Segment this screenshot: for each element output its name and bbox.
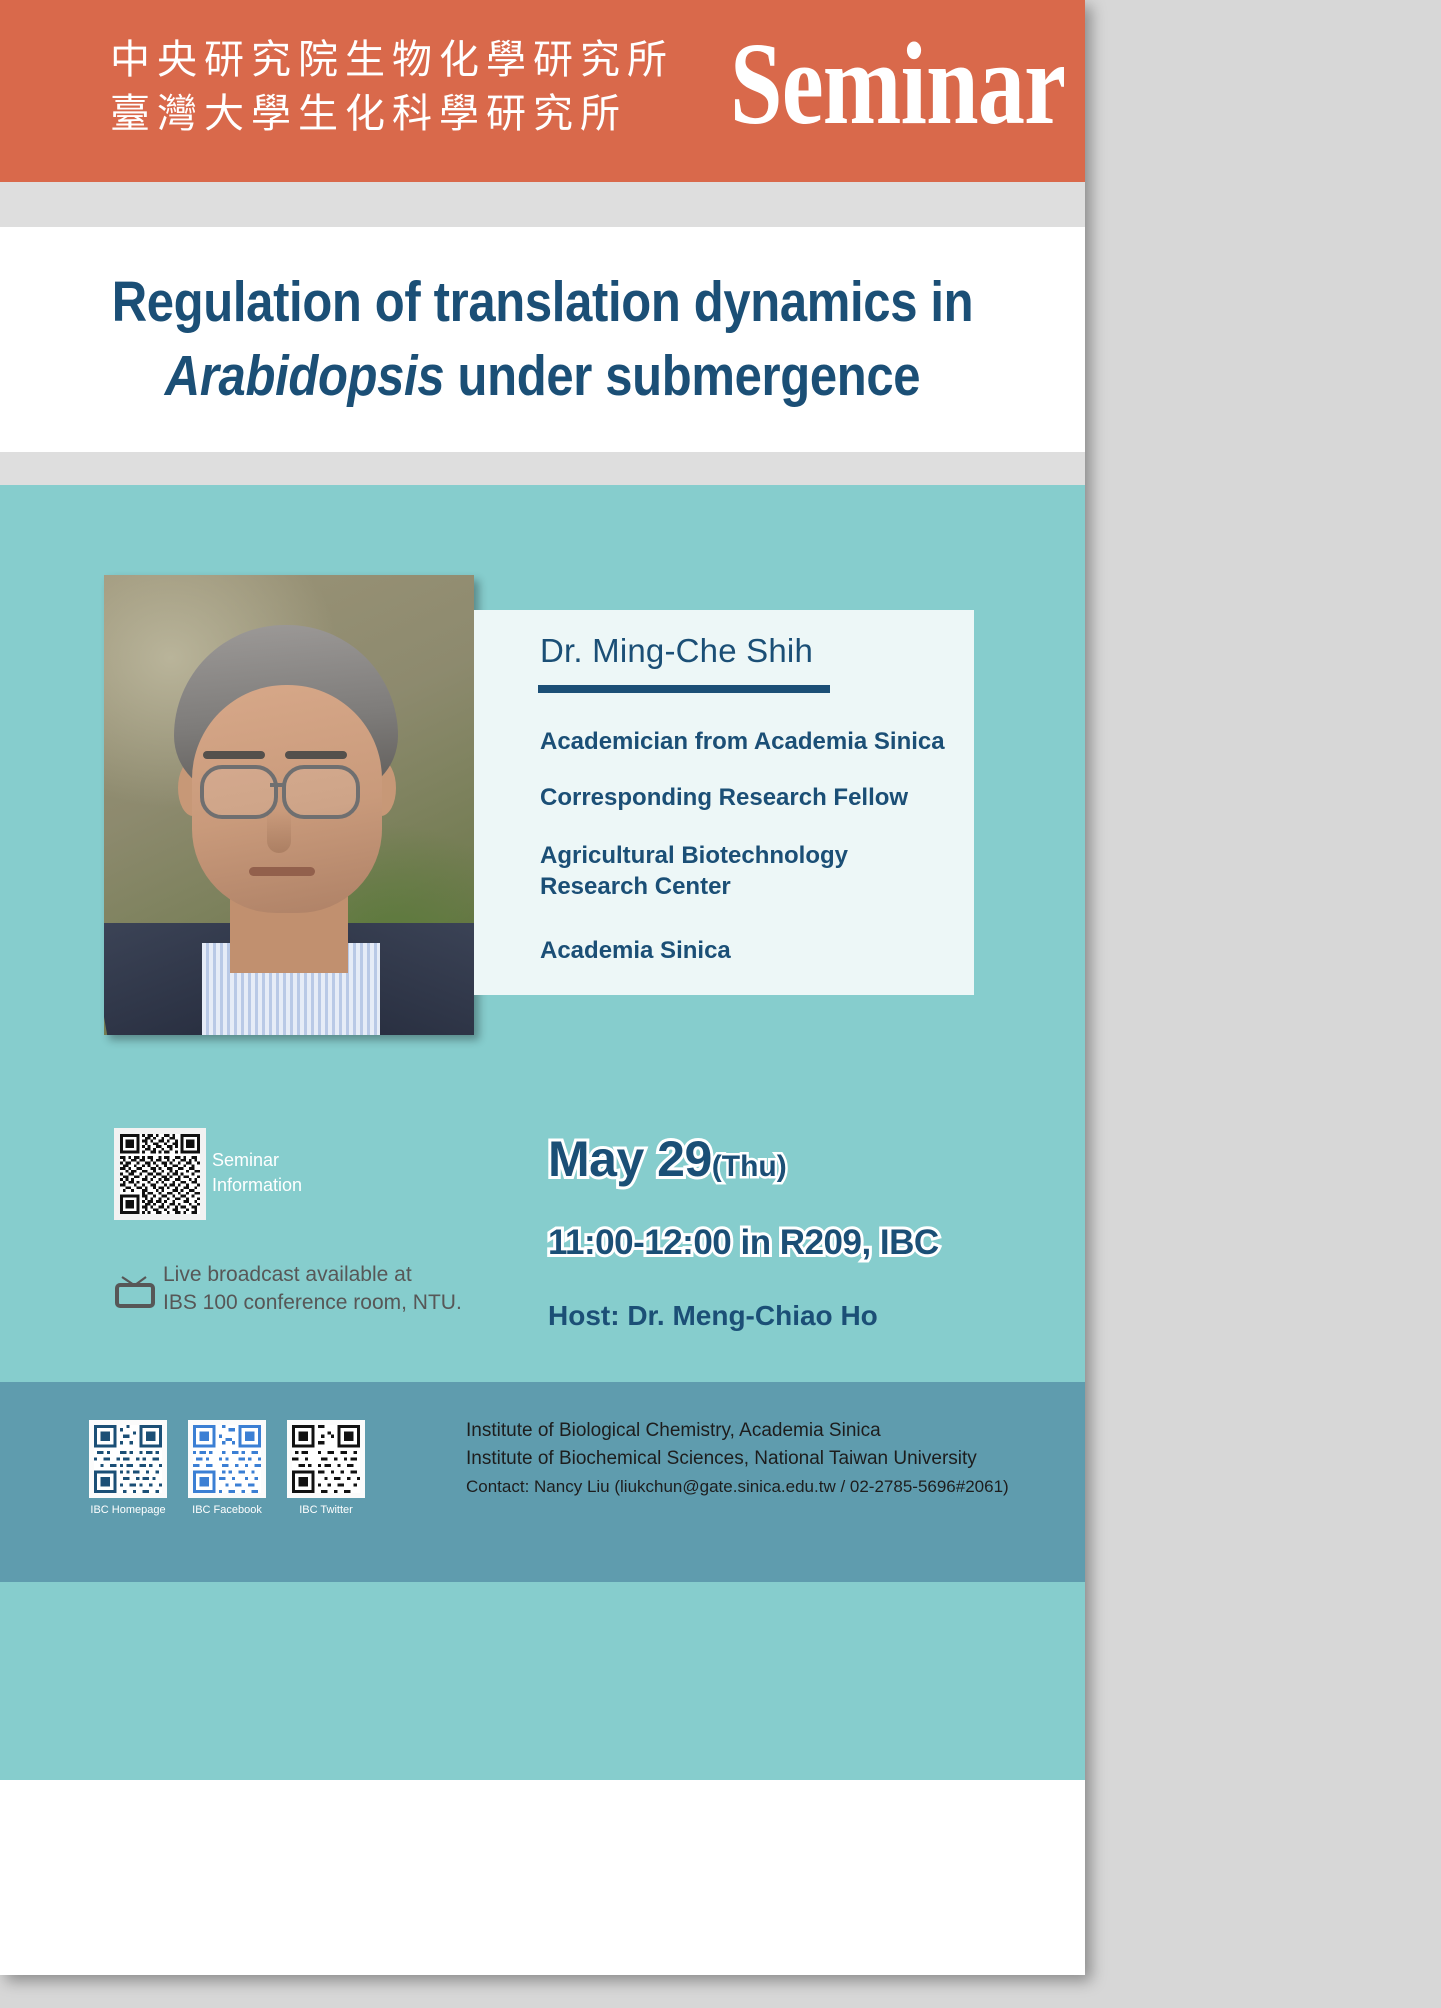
photo-glasses-bridge — [270, 783, 284, 787]
poster-page: 中央研究院生物化學研究所 臺灣大學生化科學研究所 Seminar Regulat… — [0, 0, 1441, 2008]
seminar-information-label: Seminar Information — [212, 1148, 392, 1198]
broadcast-line-2: IBS 100 conference room, NTU. — [163, 1289, 493, 1317]
footer-contact-block: Institute of Biological Chemistry, Acade… — [466, 1417, 1066, 1501]
title-species-italic: Arabidopsis — [165, 344, 445, 408]
broadcast-line-1: Live broadcast available at — [163, 1261, 493, 1289]
seminar-wordmark: Seminar — [730, 25, 1065, 143]
footer-qr-facebook-caption: IBC Facebook — [188, 1504, 266, 1516]
institute-names-cjk: 中央研究院生物化學研究所 臺灣大學生化科學研究所 — [110, 33, 674, 141]
photo-mouth — [249, 867, 315, 876]
speaker-name-rule — [538, 685, 830, 693]
footer-contact: Contact: Nancy Liu (liukchun@gate.sinica… — [466, 1473, 1066, 1501]
speaker-credential-3: Academia Sinica — [540, 935, 970, 966]
speaker-credential-1: Corresponding Research Fellow — [540, 782, 970, 813]
footer-qr-homepage-caption: IBC Homepage — [89, 1504, 167, 1516]
live-broadcast-note: Live broadcast available at IBS 100 conf… — [163, 1261, 493, 1317]
qr-matrix — [94, 1425, 162, 1493]
seminar-info-line-2: Information — [212, 1173, 392, 1198]
photo-glasses-right — [282, 765, 360, 819]
title-line-1: Regulation of translation dynamics in — [112, 270, 974, 334]
footer-qr-homepage-box — [89, 1420, 167, 1498]
divider-band-top — [0, 182, 1085, 227]
title-line-2-rest: under submergence — [444, 344, 920, 408]
photo-brow-left — [203, 751, 265, 759]
footer-qr-twitter-box — [287, 1420, 365, 1498]
event-date-row: May 29(Thu) — [548, 1130, 787, 1188]
tv-icon — [114, 1268, 156, 1308]
speaker-credential-2: Agricultural Biotechnology Research Cent… — [540, 840, 970, 902]
footer-qr-twitter-caption: IBC Twitter — [287, 1504, 365, 1516]
footer-institute-1: Institute of Biological Chemistry, Acade… — [466, 1417, 1066, 1445]
title-band: Regulation of translation dynamics in Ar… — [0, 227, 1085, 452]
footer-qr-facebook[interactable]: IBC Facebook — [188, 1420, 266, 1516]
cjk-line-1: 中央研究院生物化學研究所 — [110, 33, 674, 87]
event-time-location: 11:00-12:00 in R209, IBC — [548, 1223, 939, 1263]
page-title: Regulation of translation dynamics in Ar… — [76, 265, 1009, 413]
footer-qr-homepage[interactable]: IBC Homepage — [89, 1420, 167, 1516]
poster-sheet: 中央研究院生物化學研究所 臺灣大學生化科學研究所 Seminar Regulat… — [0, 0, 1085, 1975]
photo-nose — [267, 811, 291, 853]
speaker-photo — [104, 575, 474, 1035]
qr-matrix — [193, 1425, 261, 1493]
photo-brow-right — [285, 751, 347, 759]
event-day-of-week: (Thu) — [712, 1150, 787, 1183]
qr-matrix — [120, 1134, 200, 1214]
event-date: May 29 — [548, 1131, 712, 1187]
speaker-name: Dr. Ming-Che Shih — [540, 632, 813, 670]
cjk-line-2: 臺灣大學生化科學研究所 — [110, 87, 674, 141]
footer-qr-facebook-box — [188, 1420, 266, 1498]
event-host: Host: Dr. Meng-Chiao Ho — [548, 1300, 878, 1332]
footer-institute-2: Institute of Biochemical Sciences, Natio… — [466, 1445, 1066, 1473]
seminar-information-qr-code[interactable] — [114, 1128, 206, 1220]
seminar-info-line-1: Seminar — [212, 1148, 392, 1173]
speaker-credential-0: Academician from Academia Sinica — [540, 726, 970, 757]
poster-header: 中央研究院生物化學研究所 臺灣大學生化科學研究所 Seminar — [0, 0, 1085, 182]
qr-matrix — [292, 1425, 360, 1493]
footer-qr-twitter[interactable]: IBC Twitter — [287, 1420, 365, 1516]
